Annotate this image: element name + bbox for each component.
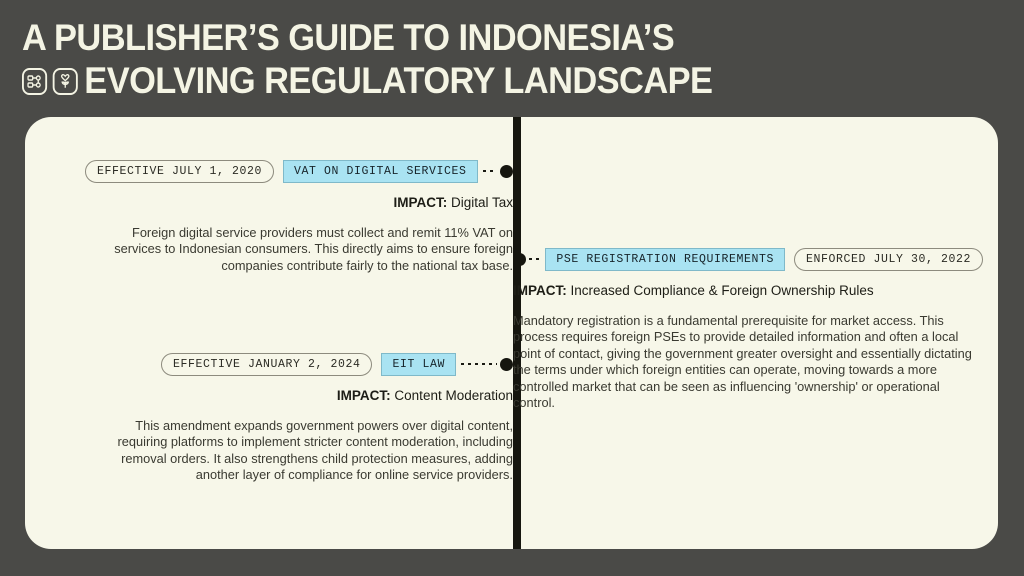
chip-row: EFFECTIVE JULY 1, 2020 VAT ON DIGITAL SE…	[85, 159, 513, 183]
date-pill-eit[interactable]: EFFECTIVE JANUARY 2, 2024	[161, 353, 373, 376]
page-header: A PUBLISHER’S GUIDE TO INDONESIA’S EVOLV…	[22, 18, 1002, 110]
timeline-event-vat[interactable]: EFFECTIVE JULY 1, 2020 VAT ON DIGITAL SE…	[85, 159, 513, 274]
event-body-eit: This amendment expands government powers…	[85, 418, 513, 484]
plant-heart-icon	[53, 68, 78, 95]
timeline-card: EFFECTIVE JULY 1, 2020 VAT ON DIGITAL SE…	[25, 117, 998, 549]
impact-line-vat: IMPACT: Digital Tax	[85, 194, 513, 211]
title-icon-group	[22, 68, 78, 95]
page-title-line-2-row: EVOLVING REGULATORY LANDSCAPE	[22, 61, 933, 101]
law-chip-pse[interactable]: PSE REGISTRATION REQUIREMENTS	[545, 248, 785, 271]
date-pill-pse[interactable]: ENFORCED JULY 30, 2022	[794, 248, 983, 271]
network-share-icon	[22, 68, 47, 95]
timeline-event-eit[interactable]: EFFECTIVE JANUARY 2, 2024 EIT LAW IMPACT…	[85, 352, 513, 484]
impact-line-pse: IMPACT: Increased Compliance & Foreign O…	[513, 282, 983, 299]
impact-label: IMPACT:	[513, 283, 567, 298]
impact-value: Content Moderation	[394, 388, 513, 403]
timeline-node-pse[interactable]	[513, 253, 526, 266]
impact-value: Digital Tax	[451, 195, 513, 210]
connector-line-pse	[529, 258, 540, 260]
impact-line-eit: IMPACT: Content Moderation	[85, 387, 513, 404]
impact-label: IMPACT:	[337, 388, 391, 403]
connector-line-vat	[483, 170, 497, 172]
page-title-line-1: A PUBLISHER’S GUIDE TO INDONESIA’S	[22, 18, 933, 58]
impact-value: Increased Compliance & Foreign Ownership…	[571, 283, 874, 298]
page-title-line-2-text: EVOLVING REGULATORY LANDSCAPE	[84, 61, 712, 101]
connector-line-eit	[461, 363, 497, 365]
chip-row: EFFECTIVE JANUARY 2, 2024 EIT LAW	[85, 352, 513, 376]
law-chip-vat[interactable]: VAT ON DIGITAL SERVICES	[283, 160, 478, 183]
timeline-node-eit[interactable]	[500, 358, 513, 371]
law-chip-eit[interactable]: EIT LAW	[381, 353, 456, 376]
timeline-node-vat[interactable]	[500, 165, 513, 178]
date-pill-vat[interactable]: EFFECTIVE JULY 1, 2020	[85, 160, 274, 183]
timeline-event-pse[interactable]: PSE REGISTRATION REQUIREMENTS ENFORCED J…	[513, 247, 983, 411]
impact-label: IMPACT:	[393, 195, 447, 210]
chip-row: PSE REGISTRATION REQUIREMENTS ENFORCED J…	[513, 247, 983, 271]
event-body-vat: Foreign digital service providers must c…	[85, 225, 513, 274]
event-body-pse: Mandatory registration is a fundamental …	[513, 313, 983, 411]
